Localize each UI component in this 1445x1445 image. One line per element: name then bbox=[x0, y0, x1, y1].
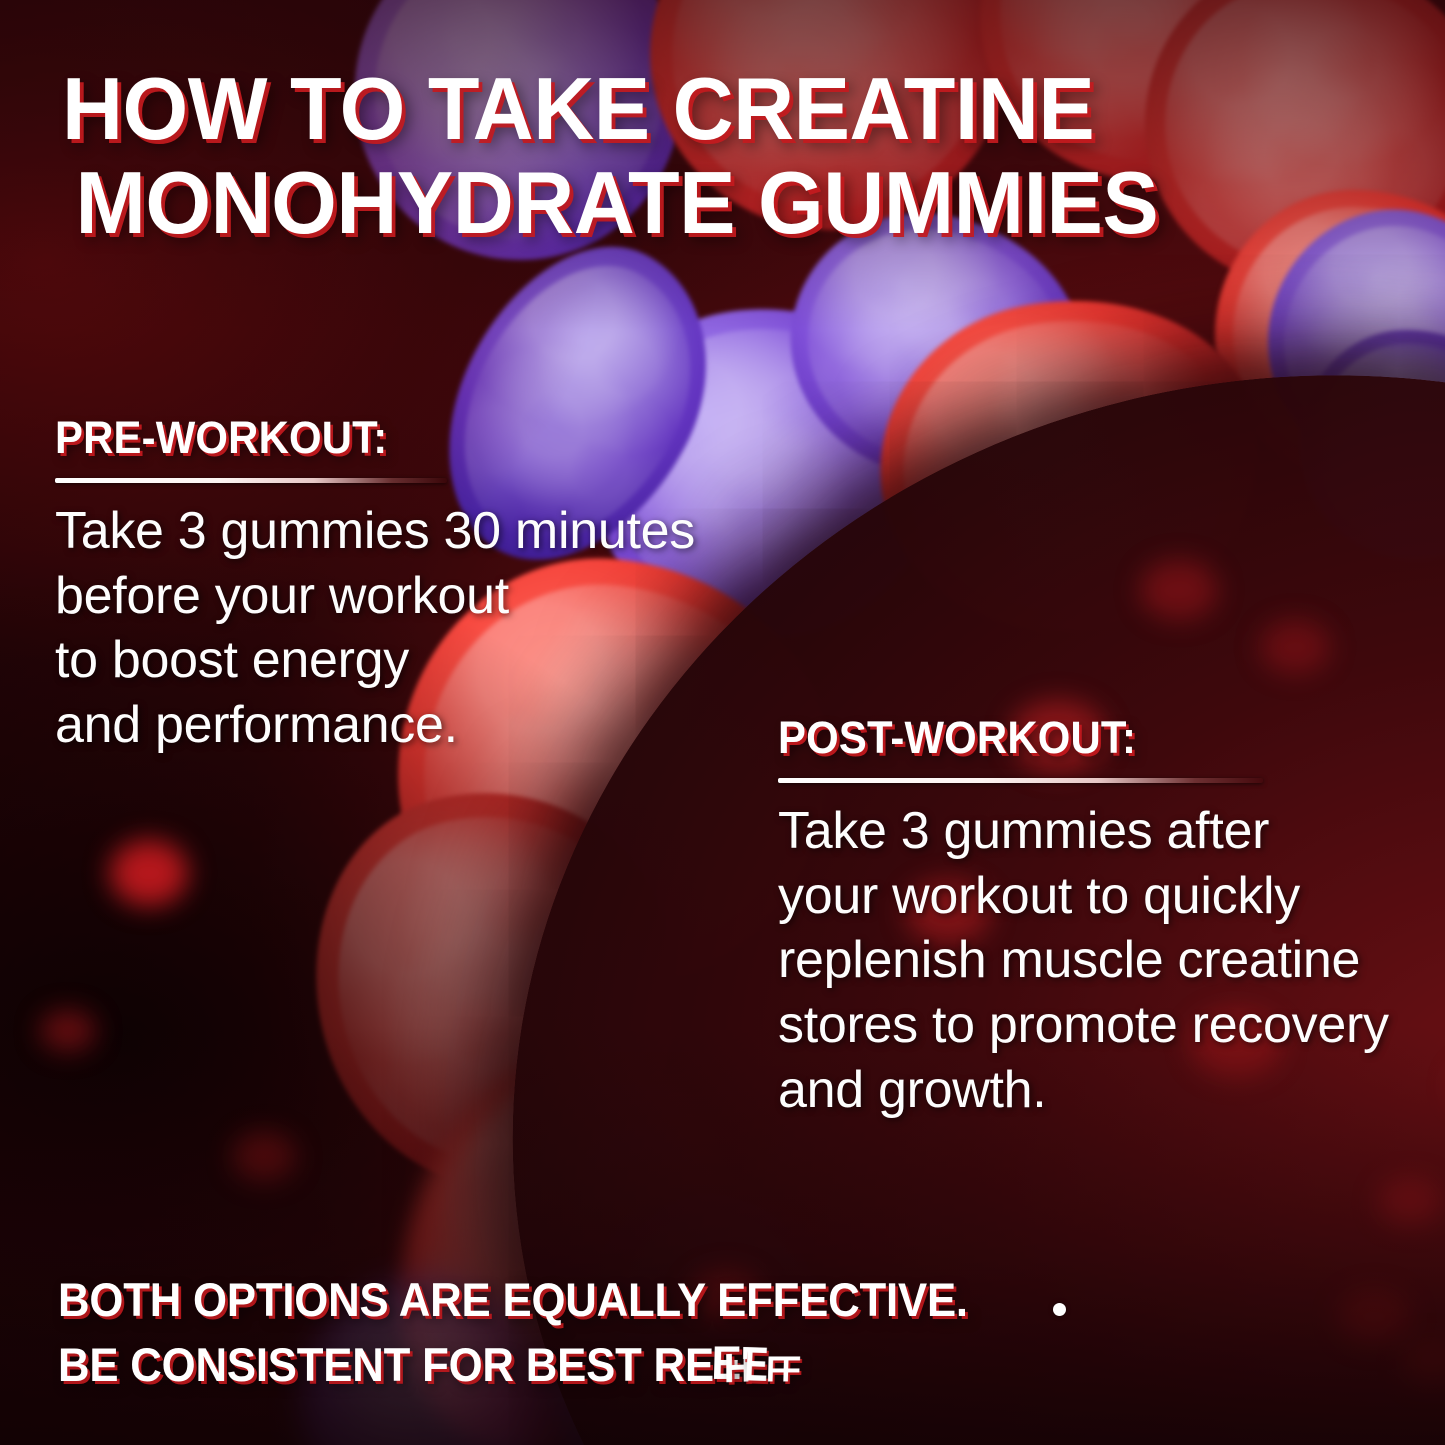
page-title: HOW TO TAKE CREATINE MONOHYDRATE GUMMIES bbox=[62, 62, 1281, 250]
post-workout-heading: POST-WORKOUT: bbox=[778, 712, 1364, 764]
stray-dot-artifact bbox=[1053, 1303, 1066, 1316]
footer-line-1: BOTH OPTIONS ARE EQUALLY EFFECTIVE. bbox=[58, 1268, 1304, 1333]
post-workout-body: Take 3 gummies after your workout to qui… bbox=[778, 799, 1408, 1123]
pre-workout-line: and performance. bbox=[55, 693, 535, 758]
title-line-1: HOW TO TAKE CREATINE bbox=[62, 59, 1094, 158]
pre-workout-underline bbox=[55, 478, 447, 483]
footer-garbled-word: EH'EFF bbox=[711, 1334, 838, 1397]
footer-line-2-prefix: BE CONSISTENT FOR BEST RE bbox=[58, 1338, 714, 1391]
pre-workout-line: to boost energy bbox=[55, 628, 535, 693]
garble-seg-d: FF bbox=[766, 1344, 798, 1394]
pre-workout-line: Take 3 gummies 30 minutes bbox=[55, 499, 535, 564]
post-workout-line: replenish muscle creatine bbox=[778, 928, 1408, 993]
footer-line-2: BE CONSISTENT FOR BEST REEH'EFF bbox=[58, 1333, 1304, 1398]
post-workout-line: stores to promote recovery bbox=[778, 993, 1408, 1058]
post-workout-block: POST-WORKOUT: Take 3 gummies after your … bbox=[778, 712, 1408, 1123]
text-layer: HOW TO TAKE CREATINE MONOHYDRATE GUMMIES… bbox=[0, 0, 1445, 1445]
footer-callout: BOTH OPTIONS ARE EQUALLY EFFECTIVE. BE C… bbox=[58, 1268, 1304, 1398]
pre-workout-block: PRE-WORKOUT: Take 3 gummies 30 minutes b… bbox=[55, 412, 535, 758]
post-workout-line: and growth. bbox=[778, 1058, 1408, 1123]
garble-seg-c: 'E bbox=[740, 1331, 766, 1398]
post-workout-line: your workout to quickly bbox=[778, 864, 1408, 929]
poster-canvas: HOW TO TAKE CREATINE MONOHYDRATE GUMMIES… bbox=[0, 0, 1445, 1445]
pre-workout-heading: PRE-WORKOUT: bbox=[55, 412, 501, 464]
post-workout-underline bbox=[778, 778, 1263, 783]
pre-workout-body: Take 3 gummies 30 minutes before your wo… bbox=[55, 499, 535, 758]
pre-workout-line: before your workout bbox=[55, 564, 535, 629]
post-workout-line: Take 3 gummies after bbox=[778, 799, 1408, 864]
title-line-2: MONOHYDRATE GUMMIES bbox=[62, 153, 1158, 252]
